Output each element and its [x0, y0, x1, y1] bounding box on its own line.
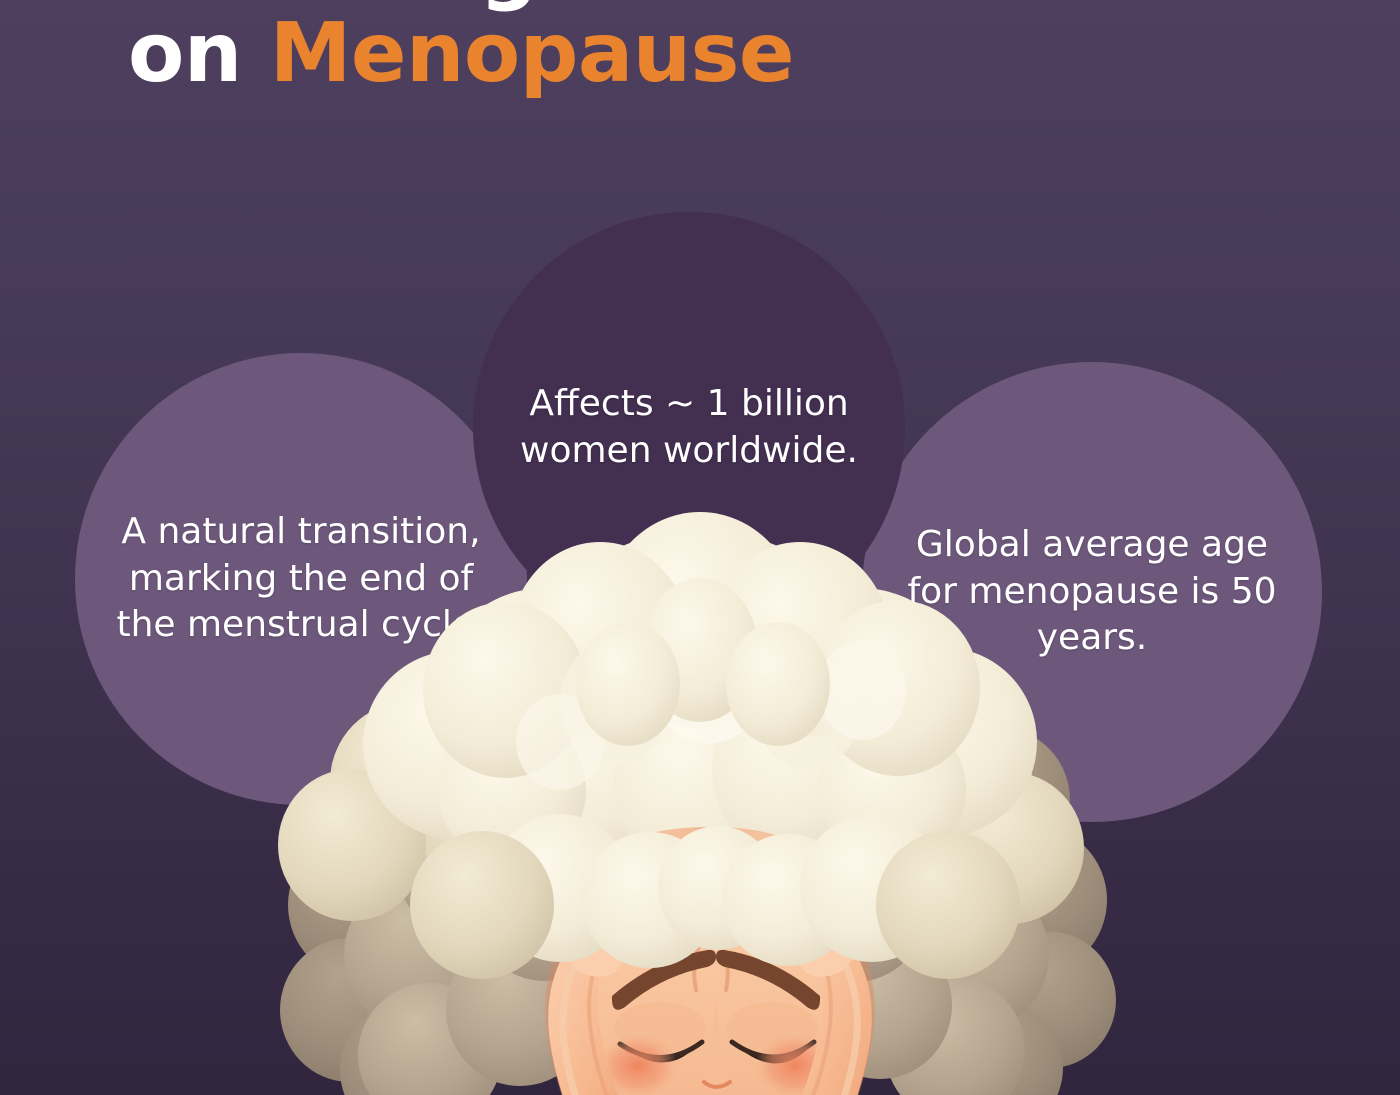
title-accent-menopause: Menopause — [270, 6, 794, 101]
nose — [704, 1000, 727, 1092]
page-title: Breaking the Silence on Menopause — [128, 0, 1228, 98]
stat-circle-center-text: Affects ~ 1 billion women worldwide. — [502, 381, 877, 475]
stat-circle-left-text: A natural transition, marking the end of… — [101, 509, 501, 649]
face — [584, 827, 836, 1095]
eyebrow-left — [612, 950, 716, 1010]
hair-lower-shadow-curls — [344, 782, 1049, 1095]
stat-circle-right-text: Global average age for menopause is 50 y… — [886, 522, 1298, 662]
title-line-2-prefix: on — [128, 6, 270, 101]
blush-right — [755, 1034, 835, 1095]
eye-left-closed — [618, 1040, 702, 1063]
eye-right-closed — [730, 1040, 814, 1064]
stat-circle-natural-transition: A natural transition, marking the end of… — [75, 353, 527, 805]
eyebrow-right — [716, 950, 820, 1010]
neck — [650, 1050, 770, 1095]
blush-left — [598, 1034, 678, 1095]
stat-circle-average-age: Global average age for menopause is 50 y… — [862, 362, 1322, 822]
hand-right — [786, 937, 875, 1095]
hair-fringe-curls — [410, 814, 1020, 979]
infographic-poster: Breaking the Silence on Menopause A natu… — [0, 0, 1400, 1095]
title-line-2: on Menopause — [128, 11, 1228, 98]
hand-left — [545, 937, 634, 1095]
stat-circle-affects-one-billion: Affects ~ 1 billion women worldwide. — [473, 212, 905, 644]
